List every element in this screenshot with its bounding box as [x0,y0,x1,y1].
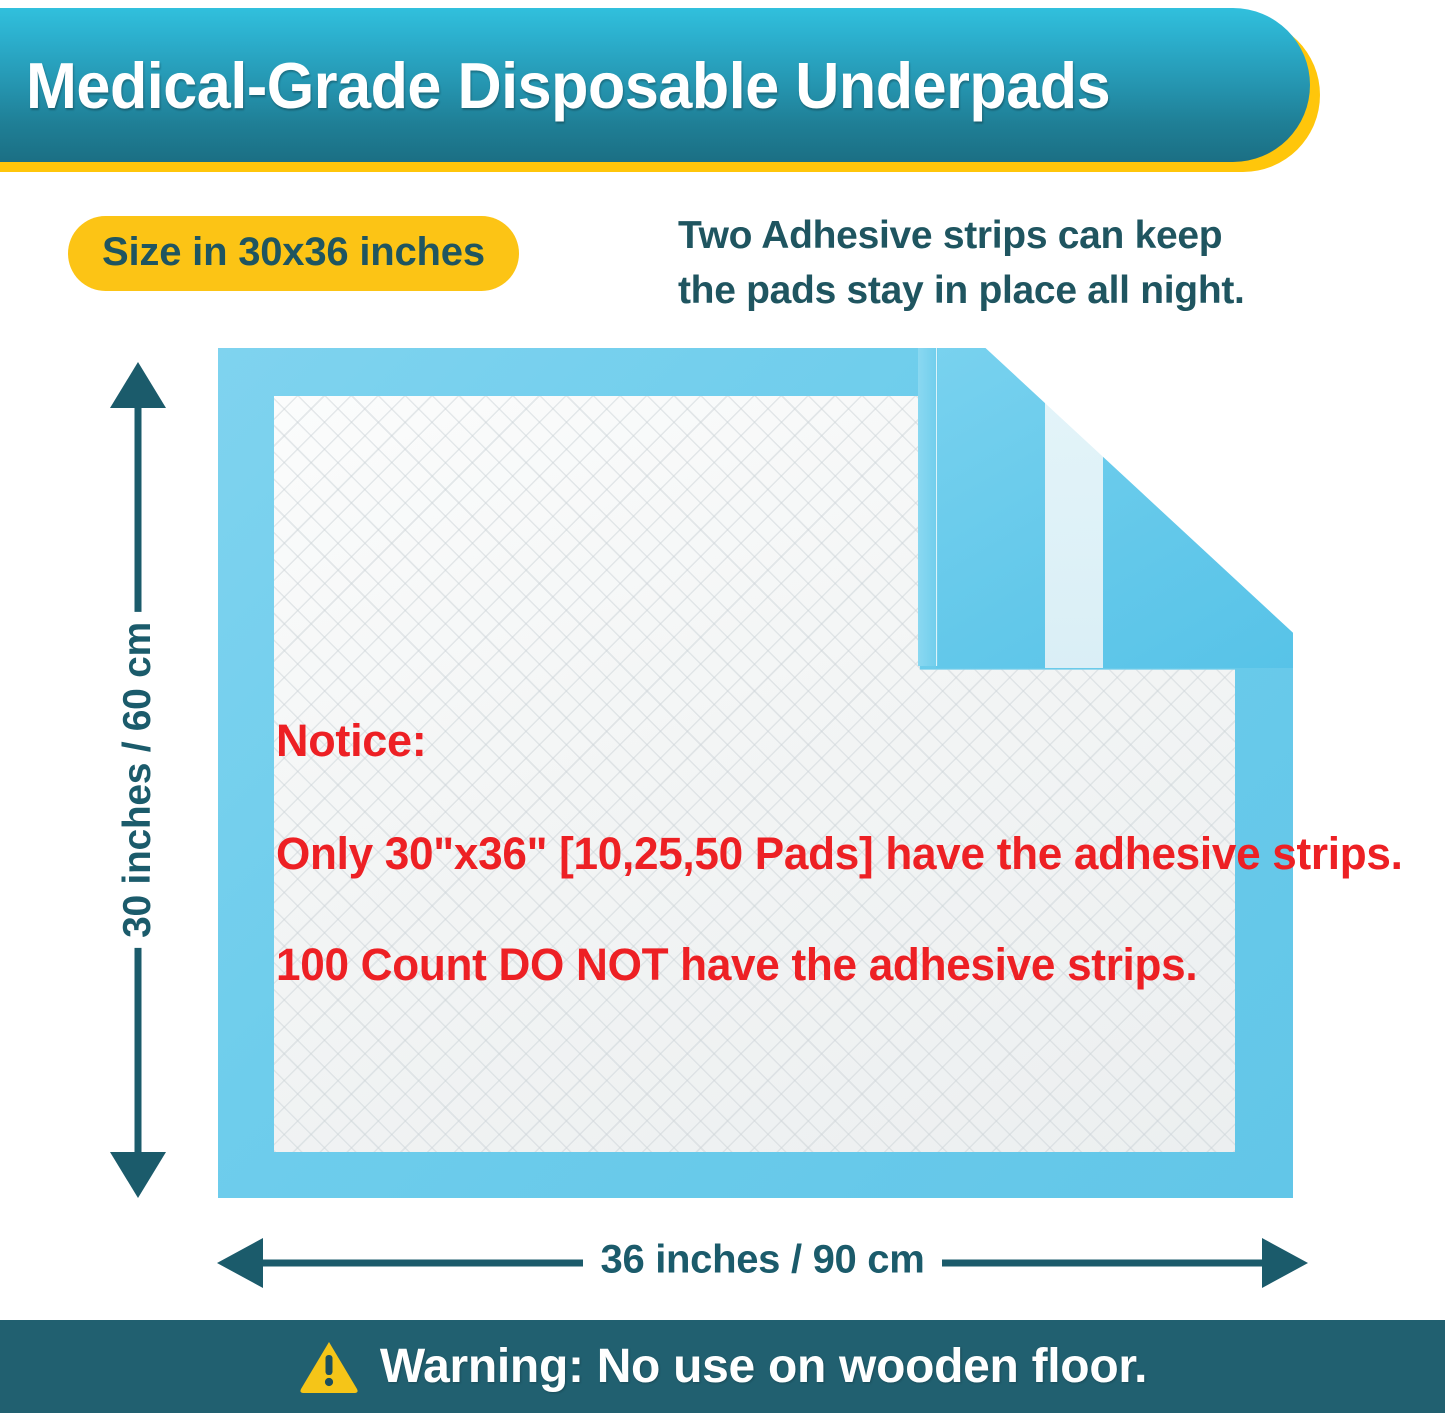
warning-text: Warning: No use on wooden floor. [380,1339,1147,1394]
height-label: 30 inches / 60 cm [116,612,160,948]
fold-inner-edge [936,348,937,666]
notice-line-2: 100 Count DO NOT have the adhesive strip… [276,942,1344,987]
notice-block: Notice: Only 30"x36" [10,25,50 Pads] hav… [276,718,1366,987]
adhesive-note-line-1: Two Adhesive strips can keep [678,208,1358,263]
warning-triangle-icon [298,1339,360,1395]
pad-folded-corner [918,348,1293,668]
page-title: Medical-Grade Disposable Underpads [26,48,1110,123]
adhesive-note-line-2: the pads stay in place all night. [678,263,1358,318]
adhesive-note: Two Adhesive strips can keep the pads st… [678,208,1358,319]
size-badge: Size in 30x36 inches [68,216,519,291]
banner-body: Medical-Grade Disposable Underpads [0,8,1310,162]
warning-bar: Warning: No use on wooden floor. [0,1320,1445,1413]
header-banner: Medical-Grade Disposable Underpads [0,8,1310,162]
height-dimension: 30 inches / 60 cm [86,360,190,1200]
notice-line-1: Only 30"x36" [10,25,50 Pads] have the ad… [276,831,1344,876]
notice-heading: Notice: [276,718,1366,763]
fold-edge [918,348,938,666]
width-label: 36 inches / 90 cm [583,1238,943,1283]
width-dimension: 36 inches / 90 cm [215,1222,1310,1300]
product-infographic: Medical-Grade Disposable Underpads Size … [0,0,1445,1413]
